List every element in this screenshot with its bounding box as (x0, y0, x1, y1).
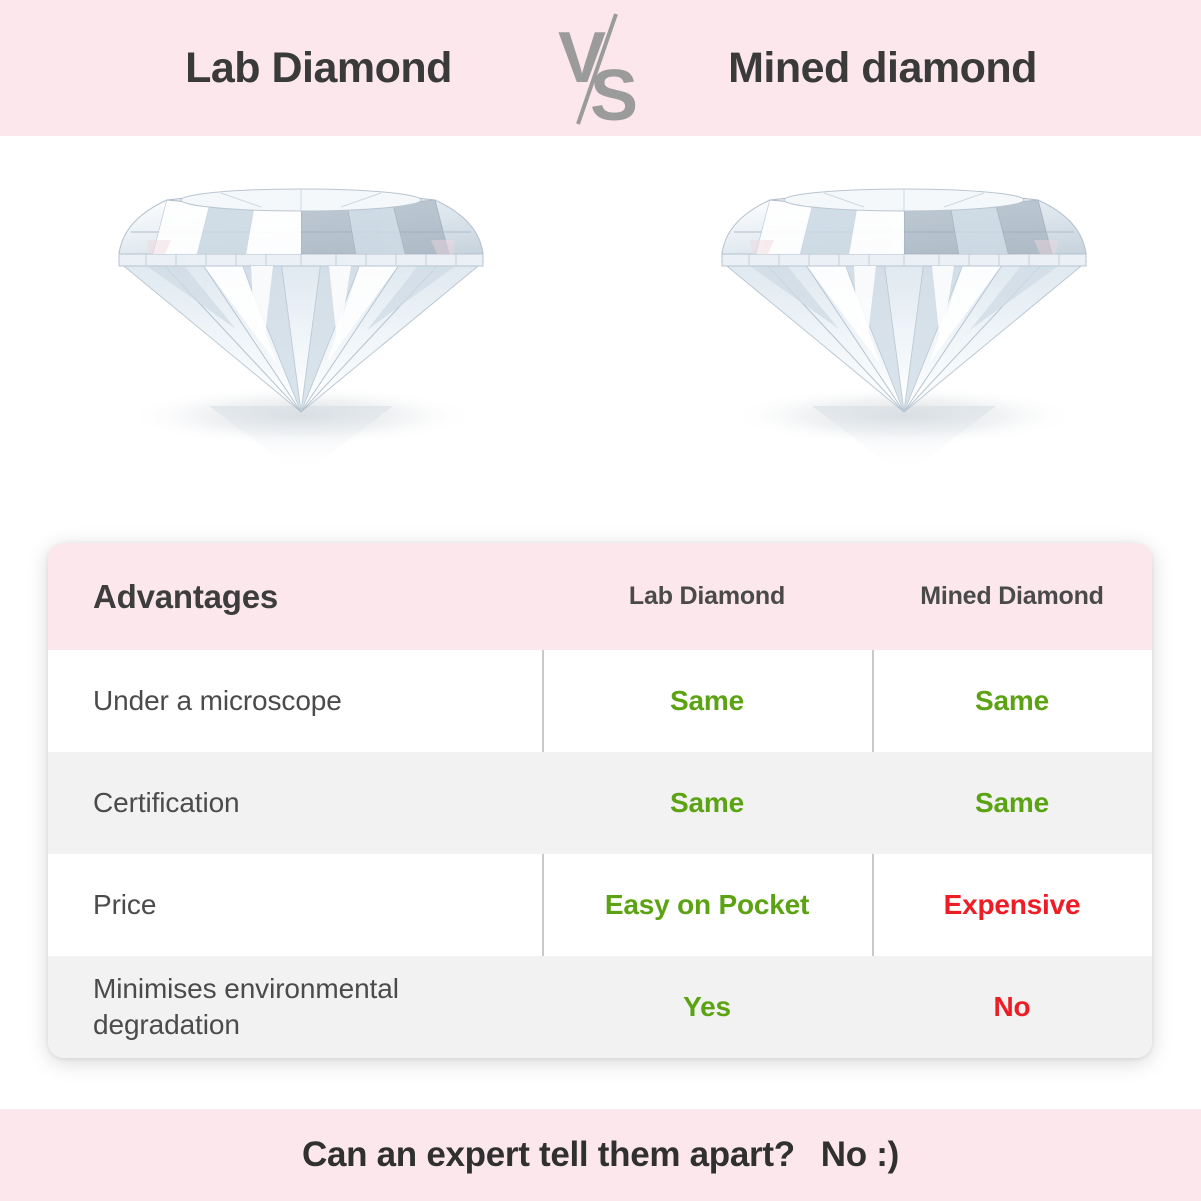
mined-diamond-image (598, 136, 1201, 536)
diamond-images-row (0, 136, 1201, 536)
mined-diamond-title: Mined diamond (654, 44, 1098, 93)
row-mined-value: No (872, 956, 1152, 1058)
row-feature-label: Minimises environmental degradation (48, 956, 542, 1058)
column-header-advantages: Advantages (48, 543, 542, 650)
lab-diamond-title: Lab Diamond (104, 44, 544, 93)
row-feature-label: Price (48, 854, 542, 956)
row-feature-label: Certification (48, 752, 542, 854)
footer-answer: No :) (821, 1135, 899, 1174)
row-mined-value: Same (872, 650, 1152, 752)
row-mined-value: Same (872, 752, 1152, 854)
header-banner: Lab Diamond V S Mined diamond (0, 0, 1201, 136)
table-row: Certification Same Same (48, 752, 1152, 854)
vs-icon: V S (544, 8, 654, 128)
row-lab-value: Same (542, 650, 872, 752)
table-header-row: Advantages Lab Diamond Mined Diamond (48, 543, 1152, 650)
comparison-table: Advantages Lab Diamond Mined Diamond Und… (48, 543, 1152, 1058)
table-row: Under a microscope Same Same (48, 650, 1152, 752)
table-row: Minimises environmental degradation Yes … (48, 956, 1152, 1058)
column-header-mined-diamond: Mined Diamond (872, 543, 1152, 650)
row-lab-value: Same (542, 752, 872, 854)
lab-diamond-image (0, 136, 598, 536)
column-header-lab-diamond: Lab Diamond (542, 543, 872, 650)
row-mined-value: Expensive (872, 854, 1152, 956)
row-lab-value: Yes (542, 956, 872, 1058)
footer-banner: Can an expert tell them apart?No :) (0, 1109, 1201, 1201)
row-lab-value: Easy on Pocket (542, 854, 872, 956)
row-feature-label: Under a microscope (48, 650, 542, 752)
footer-question: Can an expert tell them apart? (302, 1135, 795, 1174)
table-row: Price Easy on Pocket Expensive (48, 854, 1152, 956)
